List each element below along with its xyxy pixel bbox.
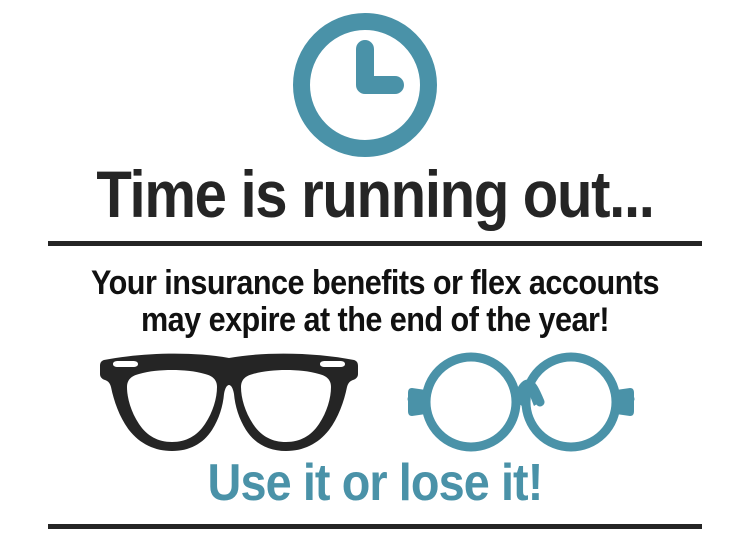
- divider-bottom: [48, 524, 702, 529]
- clock-icon: [293, 13, 437, 157]
- subhead: Your insurance benefits or flex accounts…: [38, 265, 713, 339]
- eyeglasses-black-icon: [100, 352, 358, 452]
- eyeglasses-teal-icon: [390, 352, 652, 452]
- divider-top: [48, 241, 702, 246]
- headline: Time is running out...: [45, 160, 705, 228]
- poster-canvas: Time is running out... Your insurance be…: [0, 0, 750, 540]
- subhead-line-1: Your insurance benefits or flex accounts: [38, 265, 713, 302]
- tagline: Use it or lose it!: [38, 455, 713, 511]
- subhead-line-2: may expire at the end of the year!: [38, 302, 713, 339]
- glasses-row: [0, 352, 750, 452]
